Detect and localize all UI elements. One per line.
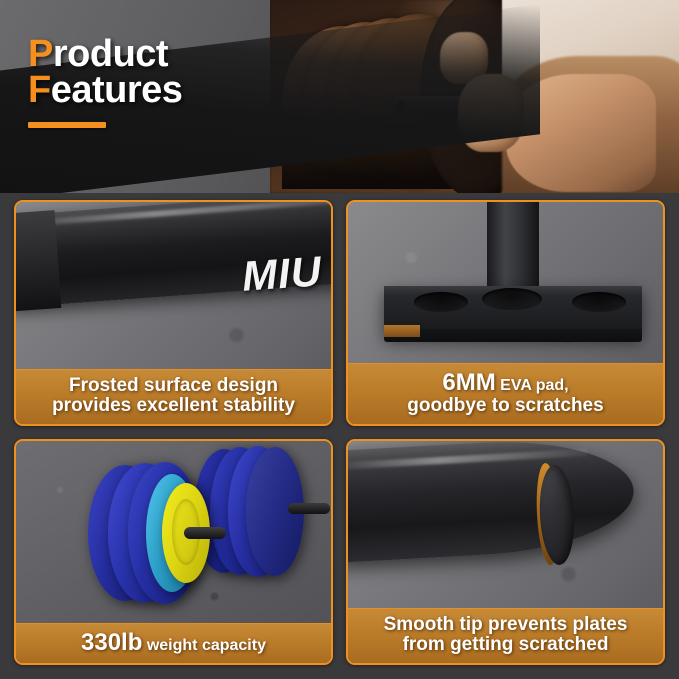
caption-emphasis-330lb: 330lb — [81, 629, 142, 656]
title-line-product: Product — [28, 36, 182, 72]
brand-text-miu: MIU — [240, 247, 323, 300]
caption-line-1: 6MM EVA pad, — [358, 370, 653, 395]
bar-end-cap — [14, 210, 61, 312]
base-plate-hole — [414, 292, 468, 312]
caption-line-1: 330lb weight capacity — [26, 630, 321, 655]
title-capital-f: F — [28, 69, 51, 111]
feature-panel-weight-capacity: 330lb weight capacity — [14, 439, 333, 665]
panel-caption-frosted-surface: Frosted surface design provides excellen… — [16, 369, 331, 424]
panel-caption-weight-capacity: 330lb weight capacity — [16, 623, 331, 663]
hero-banner: Product Features — [0, 0, 679, 193]
product-features-infographic: Product Features MIU Frosted surface des… — [0, 0, 679, 679]
feature-panel-frosted-surface: MIU Frosted surface design provides exce… — [14, 200, 333, 426]
caption-line-1: Frosted surface design — [26, 376, 321, 396]
caption-line-2: provides excellent stability — [26, 396, 321, 416]
title-rest-features: eatures — [51, 69, 183, 111]
caption-line-2: from getting scratched — [358, 635, 653, 655]
caption-suffix-weight-capacity: weight capacity — [147, 637, 266, 654]
caption-emphasis-6mm: 6MM — [442, 369, 495, 396]
feature-panel-smooth-tip: Smooth tip prevents plates from getting … — [346, 439, 665, 665]
base-plate-hole — [572, 292, 626, 312]
feature-panel-grid: MIU Frosted surface design provides exce… — [14, 200, 665, 665]
caption-line-1: Smooth tip prevents plates — [358, 615, 653, 635]
base-plate-post-hole — [482, 288, 542, 310]
page-title: Product Features — [28, 36, 182, 128]
feature-panel-eva-pad: 6MM EVA pad, goodbye to scratches — [346, 200, 665, 426]
caption-line-2: goodbye to scratches — [358, 396, 653, 416]
panel-caption-smooth-tip: Smooth tip prevents plates from getting … — [348, 608, 663, 663]
panel-caption-eva-pad: 6MM EVA pad, goodbye to scratches — [348, 363, 663, 424]
title-line-features: Features — [28, 72, 182, 108]
base-plate-edge — [384, 329, 642, 342]
caption-suffix-eva-pad: EVA pad, — [500, 377, 568, 394]
title-accent-rule — [28, 122, 106, 128]
dumbbell-handle-front — [184, 527, 226, 539]
eva-pad-layer — [384, 325, 420, 337]
dumbbell-handle-back — [288, 503, 330, 514]
